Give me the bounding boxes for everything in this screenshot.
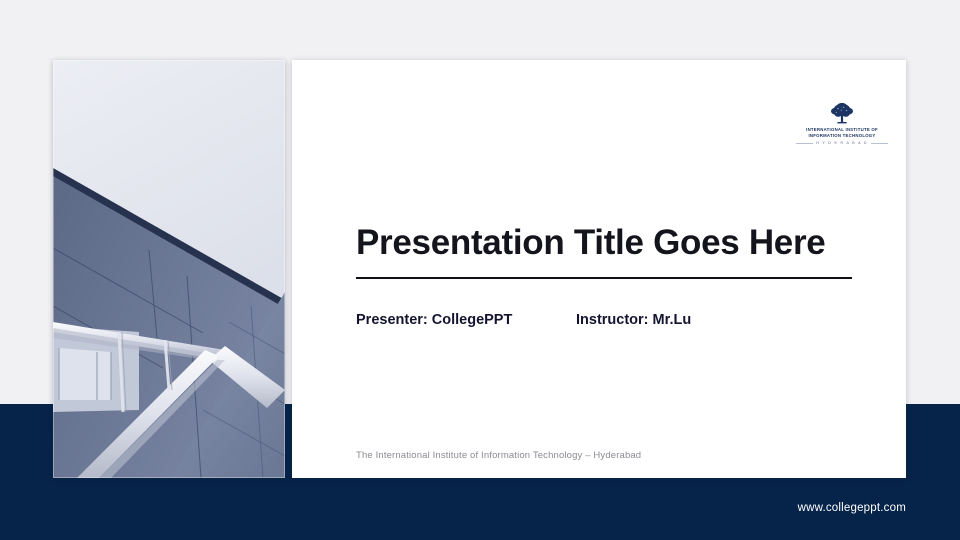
title-divider [356,277,852,278]
presenter-label: Presenter: CollegePPT [356,312,576,328]
slide-card: INTERNATIONAL INSTITUTE OF INFORMATION T… [292,60,906,478]
logo-rule-right [871,143,888,144]
slide-footer-label: The International Institute of Informati… [356,450,641,461]
title-block: Presentation Title Goes Here [356,223,852,279]
logo-city-label: H Y D E R A B A D [816,141,868,145]
logo-line-1: INTERNATIONAL INSTITUTE OF [796,127,888,133]
architecture-photo-artwork [53,60,285,478]
page-title: Presentation Title Goes Here [356,223,852,262]
logo-city-row: H Y D E R A B A D [796,141,888,145]
credits-row: Presenter: CollegePPT Instructor: Mr.Lu [356,312,691,328]
logo-rule-left [796,143,813,144]
architecture-photo [53,60,285,478]
iiit-tree-emblem-icon [829,102,855,124]
logo-line-2: INFORMATION TECHNOLOGY [796,133,888,139]
slide-canvas: www.collegeppt.com [0,0,960,540]
instructor-label: Instructor: Mr.Lu [576,312,691,328]
institution-logo: INTERNATIONAL INSTITUTE OF INFORMATION T… [796,102,888,145]
site-url-label: www.collegeppt.com [798,502,906,514]
